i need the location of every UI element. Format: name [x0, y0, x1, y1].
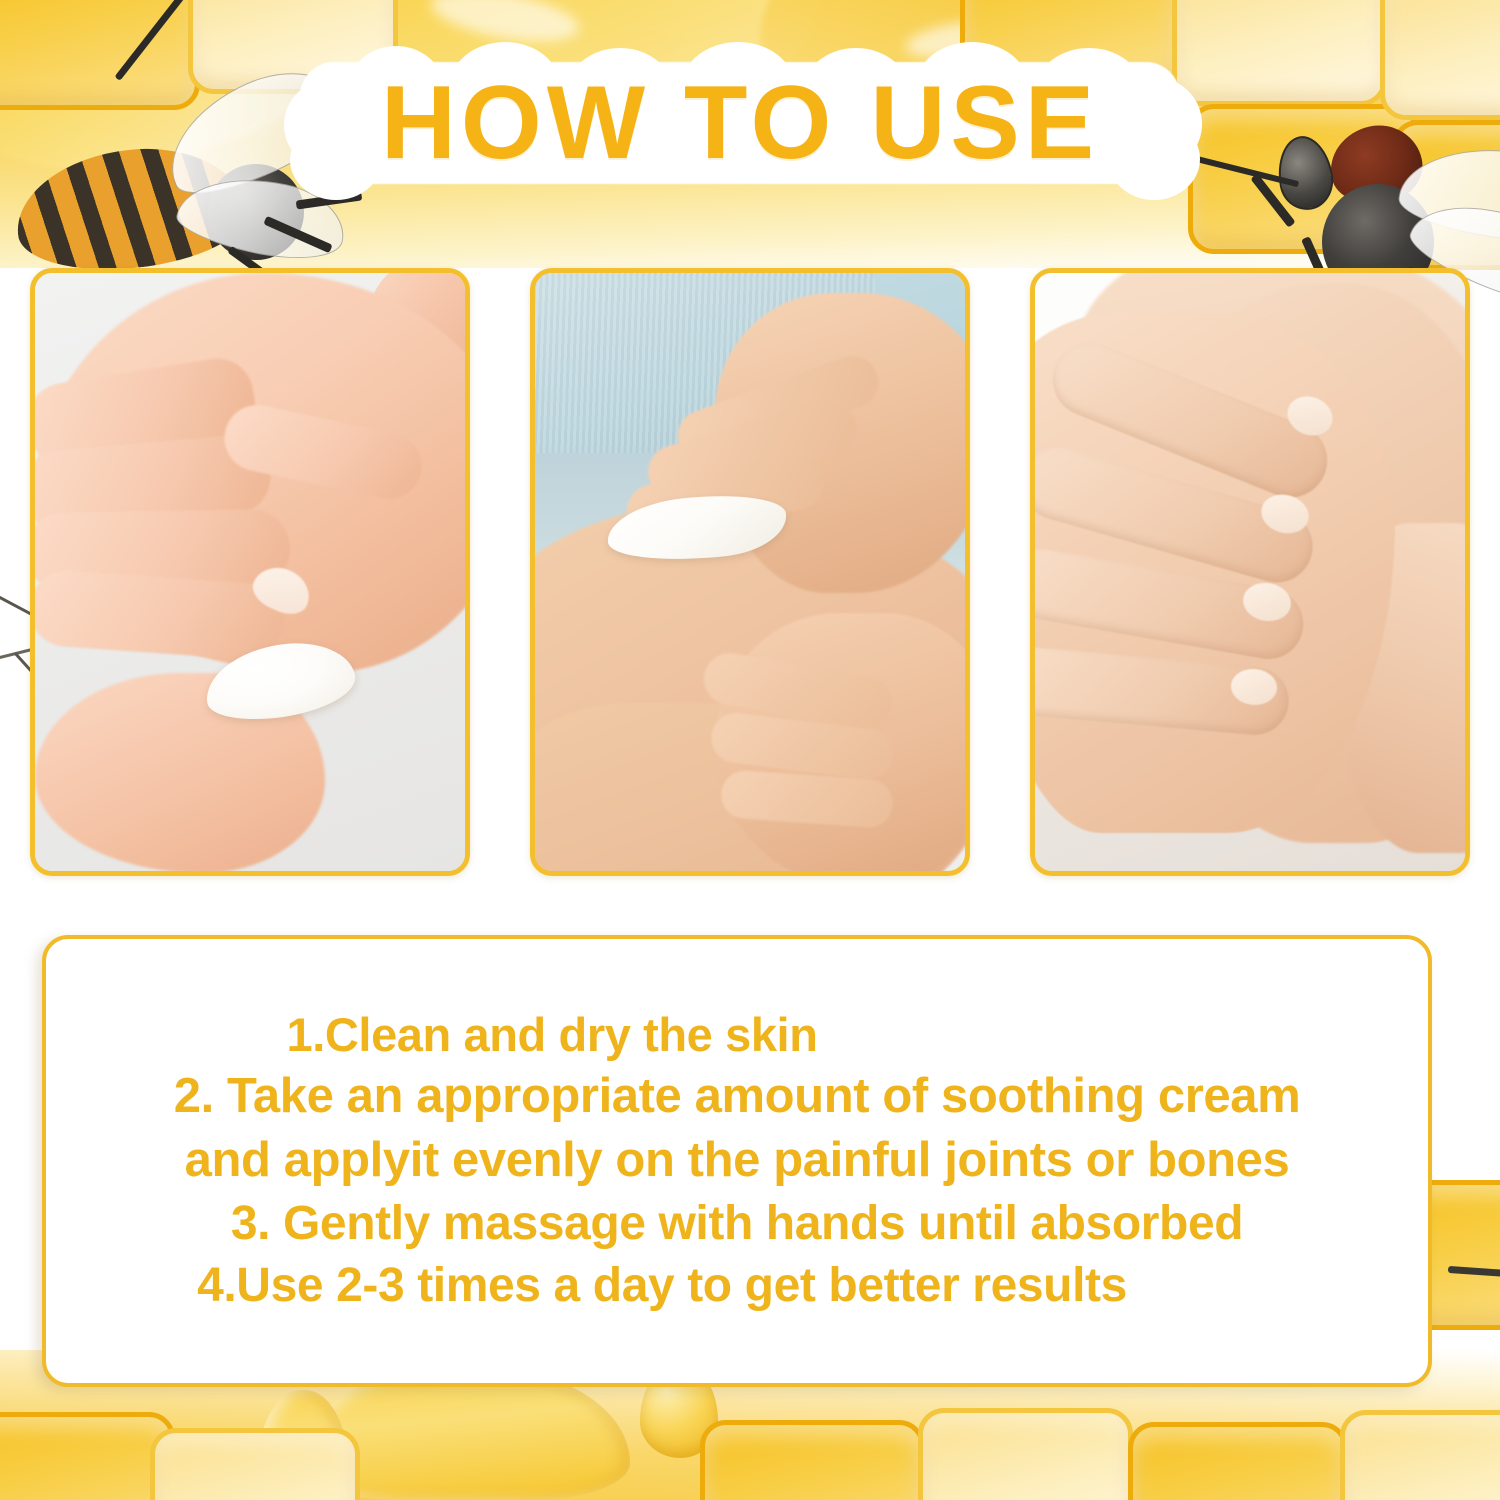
instruction-line-1: 1.Clean and dry the skin	[286, 1004, 817, 1065]
photo-palm-with-cream	[35, 273, 465, 871]
honeycomb-cell-bottom-3	[700, 1420, 925, 1500]
honeycomb-cell-bottom-6	[1340, 1410, 1500, 1500]
photo-panel-1[interactable]	[30, 268, 470, 876]
photo-panel-row	[0, 268, 1500, 884]
instruction-line-5: 4.Use 2-3 times a day to get better resu…	[197, 1255, 1127, 1317]
photo-panel-2[interactable]	[530, 268, 970, 876]
instruction-line-4: 3. Gently massage with hands until absor…	[231, 1193, 1243, 1255]
photo-panel-3[interactable]	[1030, 268, 1470, 876]
title-banner: HOW TO USE	[300, 62, 1180, 184]
instructions-box: 1.Clean and dry the skin 2. Take an appr…	[42, 935, 1432, 1387]
honeycomb-cell-top-6	[1380, 0, 1500, 120]
instruction-line-3: and applyit evenly on the painful joints…	[185, 1129, 1290, 1193]
how-to-use-poster: HOW TO USE	[0, 0, 1500, 1500]
instruction-line-2: 2. Take an appropriate amount of soothin…	[174, 1065, 1301, 1129]
photo-massage-knee	[1035, 273, 1465, 871]
photo-apply-to-knee	[535, 273, 965, 871]
page-title: HOW TO USE	[300, 62, 1180, 184]
honeycomb-cell-bottom-1	[0, 1412, 175, 1500]
honeycomb-cell-top-4	[1172, 0, 1387, 106]
honeycomb-cell-bottom-2	[150, 1428, 360, 1500]
honeycomb-cell-bottom-5	[1128, 1422, 1348, 1500]
honeycomb-cell-bottom-4	[918, 1408, 1133, 1500]
bee-eye	[1272, 132, 1338, 214]
